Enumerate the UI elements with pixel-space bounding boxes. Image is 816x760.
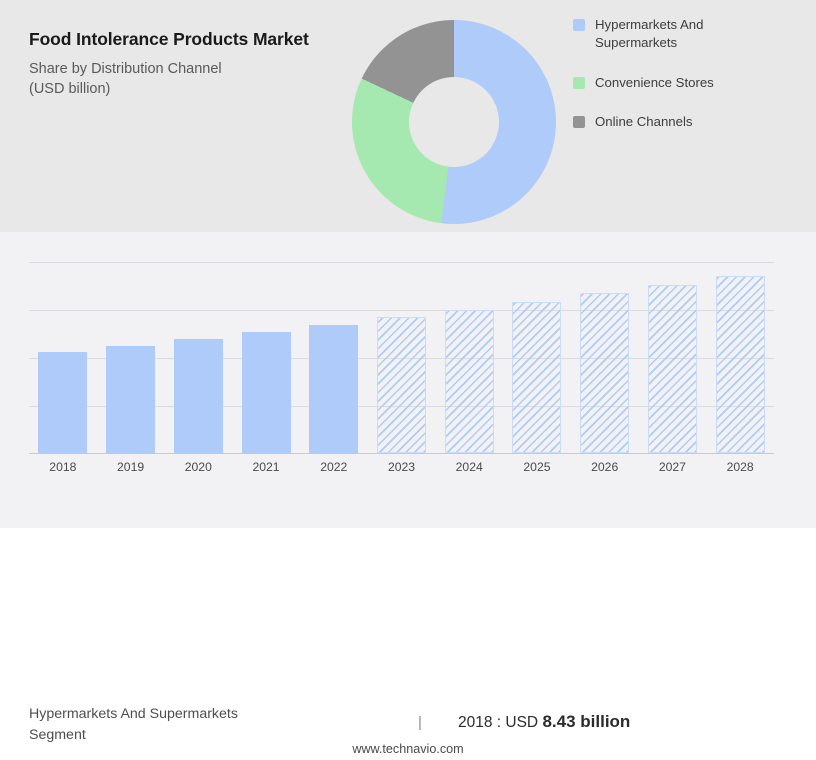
infographic-page: Food Intolerance Products Market Share b…	[0, 0, 816, 528]
subtitle-line-2: (USD billion)	[29, 81, 110, 97]
legend-label: Convenience Stores	[595, 74, 714, 92]
footer-url[interactable]: www.technavio.com	[0, 742, 816, 756]
x-axis-tick-label: 2027	[642, 460, 702, 474]
grid-line	[29, 262, 774, 263]
legend-label: Hypermarkets And Supermarkets	[595, 16, 775, 52]
bar-forecast	[648, 285, 697, 453]
legend: Hypermarkets And Supermarkets Convenienc…	[573, 16, 803, 153]
x-axis-labels: 2018201920202021202220232024202520262027…	[29, 460, 774, 478]
subtitle-line-1: Share by Distribution Channel	[29, 61, 222, 77]
page-title: Food Intolerance Products Market	[29, 28, 349, 52]
legend-item-convenience-stores: Convenience Stores	[573, 74, 803, 92]
footer-value-amount: 8.43 billion	[542, 712, 630, 731]
footer-value: 2018 : USD 8.43 billion	[458, 712, 630, 732]
bar-chart	[29, 262, 774, 454]
x-axis-tick-label: 2026	[575, 460, 635, 474]
x-axis-tick-label: 2028	[710, 460, 770, 474]
legend-label: Online Channels	[595, 113, 693, 131]
x-axis-tick-label: 2019	[101, 460, 161, 474]
legend-swatch-icon	[573, 77, 585, 89]
bar-forecast	[512, 302, 561, 453]
x-axis-tick-label: 2020	[168, 460, 228, 474]
bar-forecast	[377, 317, 426, 453]
page-subtitle: Share by Distribution Channel (USD billi…	[29, 59, 349, 100]
footer-segment-line-2: Segment	[29, 727, 86, 743]
x-axis-tick-label: 2023	[372, 460, 432, 474]
bar-historical	[174, 339, 223, 453]
x-axis-line	[29, 453, 774, 454]
footer-segment-label: Hypermarkets And Supermarkets Segment	[29, 704, 389, 745]
title-block: Food Intolerance Products Market Share b…	[29, 28, 349, 99]
x-axis-tick-label: 2022	[304, 460, 364, 474]
legend-item-online-channels: Online Channels	[573, 113, 803, 131]
x-axis-tick-label: 2025	[507, 460, 567, 474]
footer-separator: |	[418, 714, 422, 731]
top-panel: Food Intolerance Products Market Share b…	[0, 0, 816, 232]
donut-chart	[352, 20, 556, 224]
x-axis-tick-label: 2018	[33, 460, 93, 474]
bar-historical	[38, 352, 87, 453]
footer-value-prefix: 2018 : USD	[458, 714, 538, 731]
legend-swatch-icon	[573, 116, 585, 128]
footer: Hypermarkets And Supermarkets Segment | …	[0, 704, 816, 760]
bar-historical	[106, 346, 155, 453]
bar-forecast	[580, 293, 629, 453]
legend-swatch-icon	[573, 19, 585, 31]
legend-item-hypermarkets: Hypermarkets And Supermarkets	[573, 16, 803, 52]
donut-center-hole	[409, 77, 499, 167]
footer-segment-line-1: Hypermarkets And Supermarkets	[29, 706, 238, 722]
bar-forecast	[716, 276, 765, 453]
bar-historical	[309, 325, 358, 453]
x-axis-tick-label: 2024	[439, 460, 499, 474]
bar-historical	[242, 332, 291, 453]
x-axis-tick-label: 2021	[236, 460, 296, 474]
bottom-panel: 2018201920202021202220232024202520262027…	[0, 232, 816, 528]
bar-forecast	[445, 310, 494, 453]
